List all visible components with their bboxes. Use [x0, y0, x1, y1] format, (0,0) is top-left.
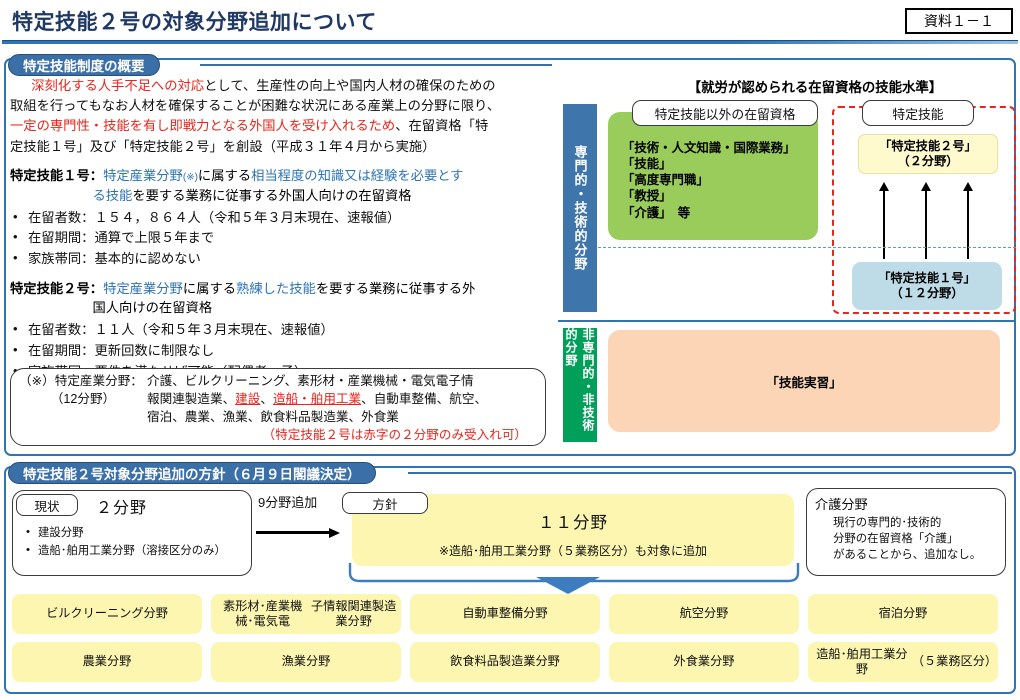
- ginou2-def-blue-a: 特定産業分野: [103, 281, 183, 296]
- intro-line3-red: 一定の専門性・技能を有し即戦力となる外国人を受け入れるため: [10, 118, 395, 133]
- current-state-list: 建設分野 造船･舶用工業分野（溶接区分のみ）: [24, 524, 226, 561]
- ginou2-diagram-box: 「特定技能２号」 （２分野）: [858, 134, 998, 174]
- list-item: 造船･舶用工業分野（溶接区分のみ）: [24, 542, 226, 560]
- title-bar: 特定技能２号の対象分野追加について: [0, 0, 1020, 46]
- vertical-label-technical: 専門的・技術的分野: [563, 104, 597, 312]
- diagram-section-divider: [558, 320, 1014, 322]
- intro-line1-red: 深刻化する人手不足への対応: [31, 78, 204, 93]
- list-item: 在留者数：１５４，８６４人（令和５年３月末現在、速報値）: [10, 208, 555, 229]
- ginou2-def-black-a: に属する: [183, 281, 236, 296]
- field-box: 飲食料品製造業分野: [410, 642, 600, 682]
- ginou1-def-line2-blue: る技能: [92, 188, 132, 203]
- label-specified-skilled: 特定技能: [862, 100, 974, 126]
- green-item: 「高度専門職」: [622, 172, 818, 188]
- note-body-line4: （特定技能２号は赤字の２分野のみ受入れ可）: [19, 427, 537, 445]
- field-row-1: ビルクリーニング分野 素形材･産業機械･電気電子情報関連製造業分野 自動車整備分…: [12, 594, 1008, 634]
- list-item: 在留期間：通算で上限５年まで: [10, 228, 555, 249]
- field-box: 外食業分野: [609, 642, 799, 682]
- list-item: 在留者数：１１人（令和５年３月末現在、速報値）: [10, 320, 555, 341]
- current-state-pill: 現状: [16, 494, 78, 516]
- kaigo-title: 介護分野: [815, 494, 997, 513]
- overview-text-column: 深刻化する人手不足への対応として、生産性の向上や国内人材の確保のための 取組を行…: [10, 76, 555, 382]
- note-line2-red1: 建設: [235, 392, 260, 406]
- ginou1-def-line2-black: を要する業務に従事する外国人向けの在留資格: [132, 188, 411, 203]
- ginou2-box-line2: （２分野）: [898, 154, 959, 169]
- ginou1-box-line2: （１２分野）: [890, 286, 963, 301]
- note-line2-b: 、: [260, 392, 273, 406]
- ginou2-heading: 特定技能２号：: [10, 281, 103, 296]
- green-item: 「技能」: [622, 156, 818, 172]
- ginou2-block: 特定技能２号：特定産業分野に属する熟練した技能を要する業務に従事する外 国人向け…: [10, 279, 555, 319]
- title-divider: [2, 40, 1018, 44]
- transition-arrow-icon: [256, 528, 340, 538]
- intro-line4: 定技能１号」及び「特定技能２号」を創設（平成３１年４月から実施）: [10, 139, 436, 154]
- policy-pill: 方針: [342, 492, 428, 514]
- field-box: ビルクリーニング分野: [12, 594, 202, 634]
- section-tab-policy: 特定技能２号対象分野追加の方針（６月９日閣議決定）: [8, 462, 376, 484]
- technical-level-divider: [598, 247, 1016, 248]
- other-status-box: 「技術・人文知識・国際業務」 「技能」 「高度専門職」 「教授」 「介護」 等: [608, 112, 818, 240]
- page-title: 特定技能２号の対象分野追加について: [12, 6, 377, 36]
- current-state-count: ２分野: [96, 494, 147, 518]
- diagram-title: 【就労が認められる在留資格の技能水準】: [620, 76, 1010, 96]
- ginou2-def-line2: 国人向けの在留資格: [10, 298, 555, 318]
- ginou1-def-black-a: に属する: [198, 168, 251, 183]
- note-body-line2: 報関連製造業、建設、造船・舶用工業、自動車整備、航空、: [147, 391, 537, 409]
- field-row-2: 農業分野 漁業分野 飲食料品製造業分野 外食業分野 造船･舶用工業分野（５業務区…: [12, 642, 1008, 682]
- ginou1-diagram-box: 「特定技能１号」 （１２分野）: [852, 262, 1002, 310]
- intro-line2: 取組を行ってもなお人材を確保することが困難な状況にある産業上の分野に限り、: [10, 98, 500, 113]
- policy-note: ※造船･舶用工業分野（５業務区分）も対象に追加: [439, 542, 707, 559]
- field-box: 自動車整備分野: [410, 594, 600, 634]
- ginou1-box-line1: 「特定技能１号」: [878, 271, 976, 286]
- field-box: 農業分野: [12, 642, 202, 682]
- field-box: 漁業分野: [211, 642, 401, 682]
- field-box: 素形材･産業機械･電気電子情報関連製造業分野: [211, 594, 401, 634]
- ginou1-def-mark: (※): [183, 172, 198, 183]
- note-body-line1: 介護、ビルクリーニング、素形材・産業機械・電気電子情: [147, 373, 537, 391]
- technical-intern-box: 「技能実習」: [608, 330, 1000, 432]
- ginou1-block: 特定技能１号：特定産業分野(※)に属する相当程度の知識又は経験を必要とす る技能…: [10, 166, 555, 206]
- ginou2-box-line1: 「特定技能２号」: [879, 139, 977, 154]
- ginou1-bullets: 在留者数：１５４，８６４人（令和５年３月末現在、速報値） 在留期間：通算で上限５…: [10, 208, 555, 270]
- note-label-line2: （12分野）: [19, 391, 147, 409]
- ginou1-def-blue-a: 特定産業分野: [103, 168, 183, 183]
- note-label-line1: （※）特定産業分野：: [19, 373, 147, 391]
- note-line2-a: 報関連製造業、: [147, 392, 235, 406]
- note-line2-c: 、自動車整備、航空、: [361, 392, 487, 406]
- kaigo-body-line1: 現行の専門的･技術的: [833, 515, 997, 531]
- policy-field-count: １１分野: [538, 509, 608, 533]
- ginou2-def-blue-b: 熟練した技能: [236, 281, 316, 296]
- document-number-badge: 資料１－１: [905, 8, 1013, 34]
- kaigo-body-line3: があることから、追加なし。: [833, 547, 997, 563]
- field-grid: ビルクリーニング分野 素形材･産業機械･電気電子情報関連製造業分野 自動車整備分…: [12, 594, 1008, 690]
- list-item: 建設分野: [24, 524, 226, 542]
- section-tab-overview: 特定技能制度の概要: [8, 54, 160, 76]
- overview-tab-rule: [200, 64, 552, 66]
- note-line2-red2: 造船・舶用工業: [273, 392, 361, 406]
- vertical-label-nontechnical: 非専門的・非技術的分野: [563, 328, 597, 442]
- kaigo-body-line2: 分野の在留資格「介護」: [833, 531, 997, 547]
- green-item: 「技術・人文知識・国際業務」: [622, 140, 818, 156]
- down-arrow-icon: [536, 577, 600, 594]
- policy-tab-rule: [408, 472, 1012, 474]
- field-box: 航空分野: [609, 594, 799, 634]
- industry-fields-note: （※）特定産業分野： 介護、ビルクリーニング、素形材・産業機械・電気電子情 （1…: [10, 368, 546, 446]
- list-item: 家族帯同：基本的に認めない: [10, 249, 555, 270]
- intro-line3-rest: 、在留資格「特: [395, 118, 488, 133]
- note-body-line3: 宿泊、農業、漁業、飲食料品製造業、外食業: [147, 409, 537, 427]
- field-box: 宿泊分野: [808, 594, 998, 634]
- list-item: 在留期間：更新回数に制限なし: [10, 341, 555, 362]
- intro-paragraph: 深刻化する人手不足への対応として、生産性の向上や国内人材の確保のための 取組を行…: [10, 76, 555, 157]
- field-box: 造船･舶用工業分野（５業務区分）: [808, 642, 998, 682]
- green-item: 「介護」 等: [622, 205, 818, 221]
- label-other-residence-status: 特定技能以外の在留資格: [632, 100, 818, 126]
- intro-line1-rest: として、生産性の向上や国内人材の確保のための: [204, 78, 495, 93]
- ginou1-def-blue-b: 相当程度の知識又は経験を必要とす: [251, 168, 463, 183]
- green-item: 「教授」: [622, 188, 818, 204]
- kaigo-body: 現行の専門的･技術的 分野の在留資格「介護」 があることから、追加なし。: [815, 515, 997, 564]
- added-fields-label: 9分野追加: [258, 492, 317, 511]
- kaigo-exception-box: 介護分野 現行の専門的･技術的 分野の在留資格「介護」 があることから、追加なし…: [806, 488, 1006, 576]
- ginou2-def-black-b: を要する業務に従事する外: [316, 281, 476, 296]
- ginou1-heading: 特定技能１号：: [10, 168, 103, 183]
